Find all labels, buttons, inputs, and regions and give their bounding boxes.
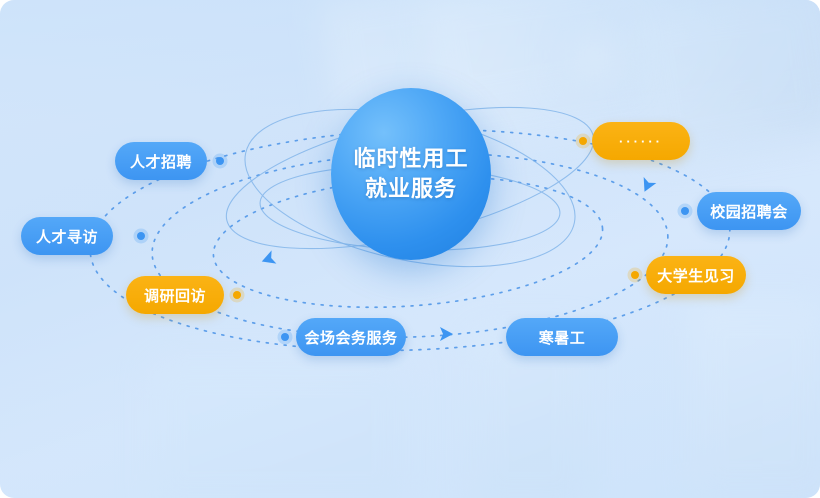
service-node-survey-followup[interactable]: 调研回访 [126,276,224,314]
arrow-left-lower [440,327,453,341]
service-node-campus-job-fair[interactable]: 校园招聘会 [697,192,801,230]
core-title-line1: 临时性用工 [353,144,468,174]
service-node-venue-services[interactable]: 会场会务服务 [296,318,406,356]
arrow-right-upper [638,177,656,195]
dot-talent-search [134,229,149,244]
service-node-label: 校园招聘会 [710,201,788,222]
service-node-label: 人才寻访 [36,226,98,247]
service-node-label: ······ [619,134,663,149]
service-node-talent-recruitment[interactable]: 人才招聘 [115,142,207,180]
service-node-label: 大学生见习 [657,265,735,286]
service-node-label: 会场会务服务 [304,327,397,348]
dot-talent-recruitment [213,154,228,169]
dot-more-ellipsis [576,134,591,149]
service-node-student-internship[interactable]: 大学生见习 [646,256,746,294]
dot-survey-followup [230,288,245,303]
service-node-seasonal-work[interactable]: 寒暑工 [506,318,618,356]
service-node-talent-search[interactable]: 人才寻访 [21,217,113,255]
service-node-label: 寒暑工 [539,327,586,348]
dot-student-internship [628,268,643,283]
service-node-label: 人才招聘 [130,151,192,172]
service-node-more-ellipsis[interactable]: ······ [592,122,690,160]
service-node-label: 调研回访 [144,285,206,306]
dot-venue-services [278,330,293,345]
dot-campus-job-fair [678,204,693,219]
core-sphere[interactable]: 临时性用工 就业服务 [331,88,491,260]
arrow-left-upper [259,250,276,268]
infographic-canvas: 临时性用工 就业服务 人才招聘人才寻访调研回访会场会务服务寒暑工大学生见习校园招… [0,0,820,498]
core-title-line2: 就业服务 [365,174,457,204]
